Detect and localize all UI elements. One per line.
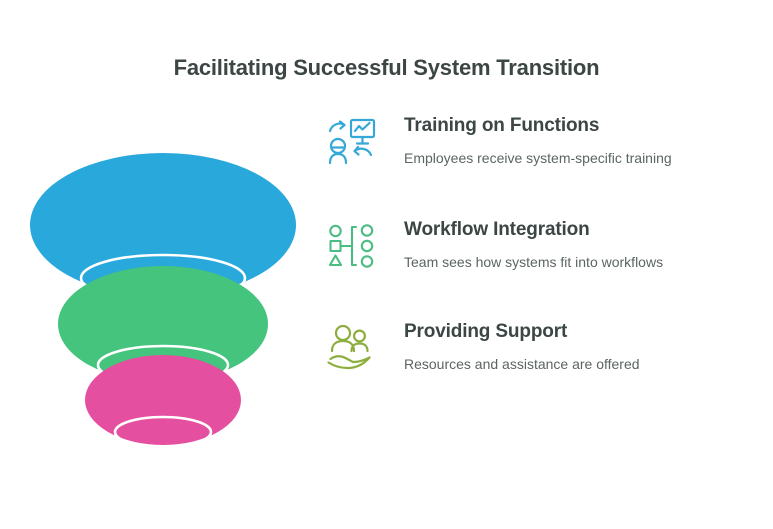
infographic-root: Facilitating Successful System Transitio… (0, 0, 773, 529)
step-title-support: Providing Support (404, 320, 762, 344)
step-text-support: Providing Support Resources and assistan… (382, 318, 762, 374)
workflow-nodes-icon (322, 216, 382, 276)
funnel-stage-3 (85, 355, 241, 447)
step-item-training: Training on Functions Employees receive … (322, 112, 762, 172)
funnel-diagram (8, 100, 318, 460)
step-title-workflow: Workflow Integration (404, 218, 762, 242)
step-item-workflow: Workflow Integration Team sees how syste… (322, 216, 762, 276)
step-description-support: Resources and assistance are offered (404, 354, 762, 374)
step-description-training: Employees receive system-specific traini… (404, 148, 762, 168)
step-title-training: Training on Functions (404, 114, 762, 138)
step-description-workflow: Team sees how systems fit into workflows (404, 252, 762, 272)
step-text-workflow: Workflow Integration Team sees how syste… (382, 216, 762, 272)
page-title: Facilitating Successful System Transitio… (0, 54, 773, 82)
training-presentation-icon (322, 112, 382, 172)
steps-list: Training on Functions Employees receive … (322, 112, 762, 404)
step-text-training: Training on Functions Employees receive … (382, 112, 762, 168)
step-item-support: Providing Support Resources and assistan… (322, 318, 762, 378)
support-hand-people-icon (322, 318, 382, 378)
